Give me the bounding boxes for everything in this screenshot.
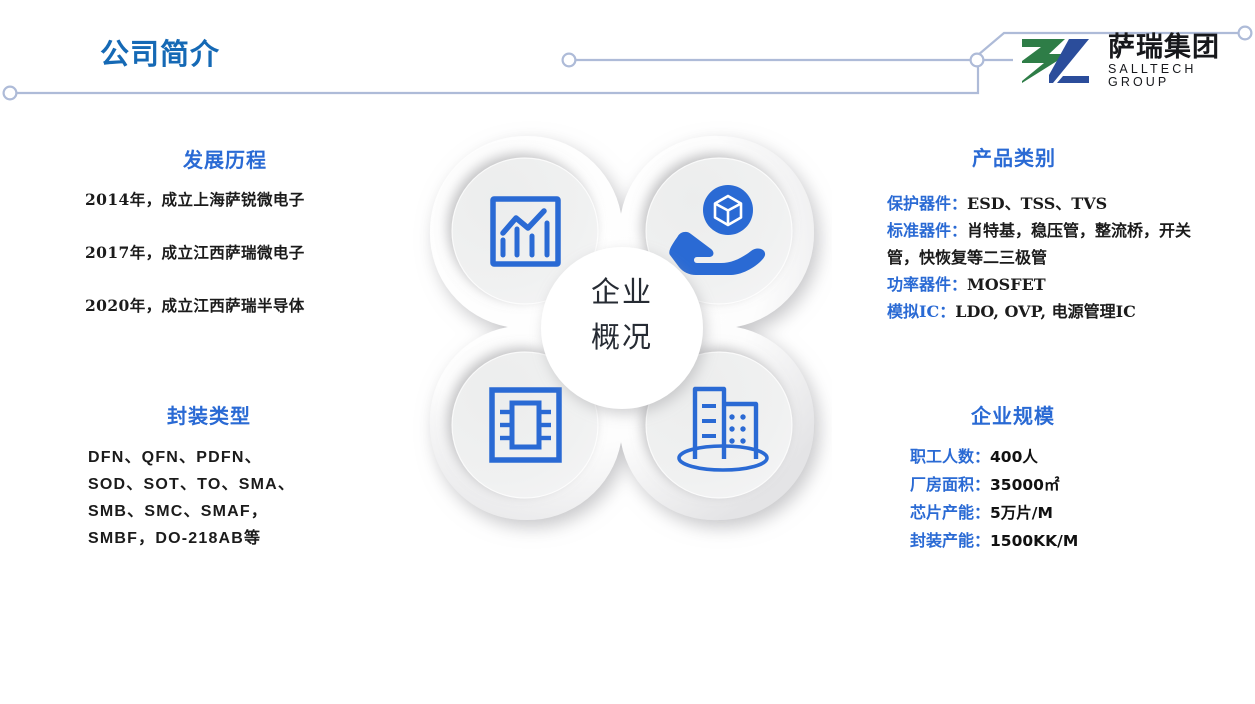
item-label: 职工人数： [910,447,990,466]
product-list: 保护器件：ESD、TSS、TVS 标准器件：肖特基，稳压管，整流桥，开关管，快恢… [887,190,1217,325]
logo-name-en: SALLTECH GROUP [1108,63,1234,88]
list-item: 标准器件：肖特基，稳压管，整流桥，开关管，快恢复等二三极管 [887,217,1217,271]
item-value: ESD、TSS、TVS [967,194,1107,213]
logo-mark-icon [1019,35,1099,87]
logo-text: 萨瑞集团 SALLTECH GROUP [1108,34,1234,89]
list-item: 职工人数：400人 [910,443,1240,471]
item-label: 厂房面积： [910,475,990,494]
section-heading-product: 产品类别 [972,142,1056,171]
center-label-line2: 概况 [412,315,832,360]
scale-list: 职工人数：400人 厂房面积：35000㎡ 芯片产能：5万片/M 封装产能：15… [910,443,1240,555]
item-label: 保护器件： [887,194,967,213]
package-list: DFN、QFN、PDFN、 SOD、SOT、TO、SMA、 SMB、SMC、SM… [88,444,418,552]
item-value: LDO, OVP, 电源管理IC [955,302,1136,321]
item-label: 功率器件： [887,275,967,294]
brand-logo: 萨瑞集团 SALLTECH GROUP [1019,27,1234,95]
item-label: 标准器件： [887,221,967,240]
list-item: 芯片产能：5万片/M [910,499,1240,527]
center-diagram: 企业 概况 [412,118,832,564]
center-label: 企业 概况 [412,270,832,360]
list-item: SOD、SOT、TO、SMA、 [88,471,418,498]
page-header: 公司简介 萨瑞集团 SALLTECH GROUP [0,0,1255,118]
section-heading-package: 封装类型 [167,400,251,429]
list-item: 2014年，成立上海萨锐微电子 [85,192,405,245]
list-item: 保护器件：ESD、TSS、TVS [887,190,1217,217]
item-label: 芯片产能： [910,503,990,522]
list-item: DFN、QFN、PDFN、 [88,444,418,471]
item-label: 模拟IC： [887,302,955,321]
section-heading-scale: 企业规模 [971,400,1055,429]
item-value: MOSFET [967,275,1046,294]
item-value: 35000㎡ [990,476,1059,494]
item-value: 5万片/M [990,504,1053,522]
list-item: SMBF，DO-218AB等 [88,525,418,552]
list-item: 2020年，成立江西萨瑞半导体 [85,298,405,351]
page-title: 公司简介 [100,31,220,73]
center-label-line1: 企业 [412,270,832,315]
list-item: 2017年，成立江西萨瑞微电子 [85,245,405,298]
list-item: 封装产能：1500KK/M [910,527,1240,555]
item-label: 封装产能： [910,531,990,550]
item-value: 1500KK/M [990,532,1078,550]
section-heading-history: 发展历程 [183,144,267,173]
list-item: 厂房面积：35000㎡ [910,471,1240,499]
list-item: 功率器件：MOSFET [887,271,1217,298]
list-item: SMB、SMC、SMAF， [88,498,418,525]
history-list: 2014年，成立上海萨锐微电子 2017年，成立江西萨瑞微电子 2020年，成立… [85,192,405,351]
logo-name-cn: 萨瑞集团 [1108,34,1234,62]
list-item: 模拟IC：LDO, OVP, 电源管理IC [887,298,1217,325]
item-value: 400人 [990,448,1038,466]
